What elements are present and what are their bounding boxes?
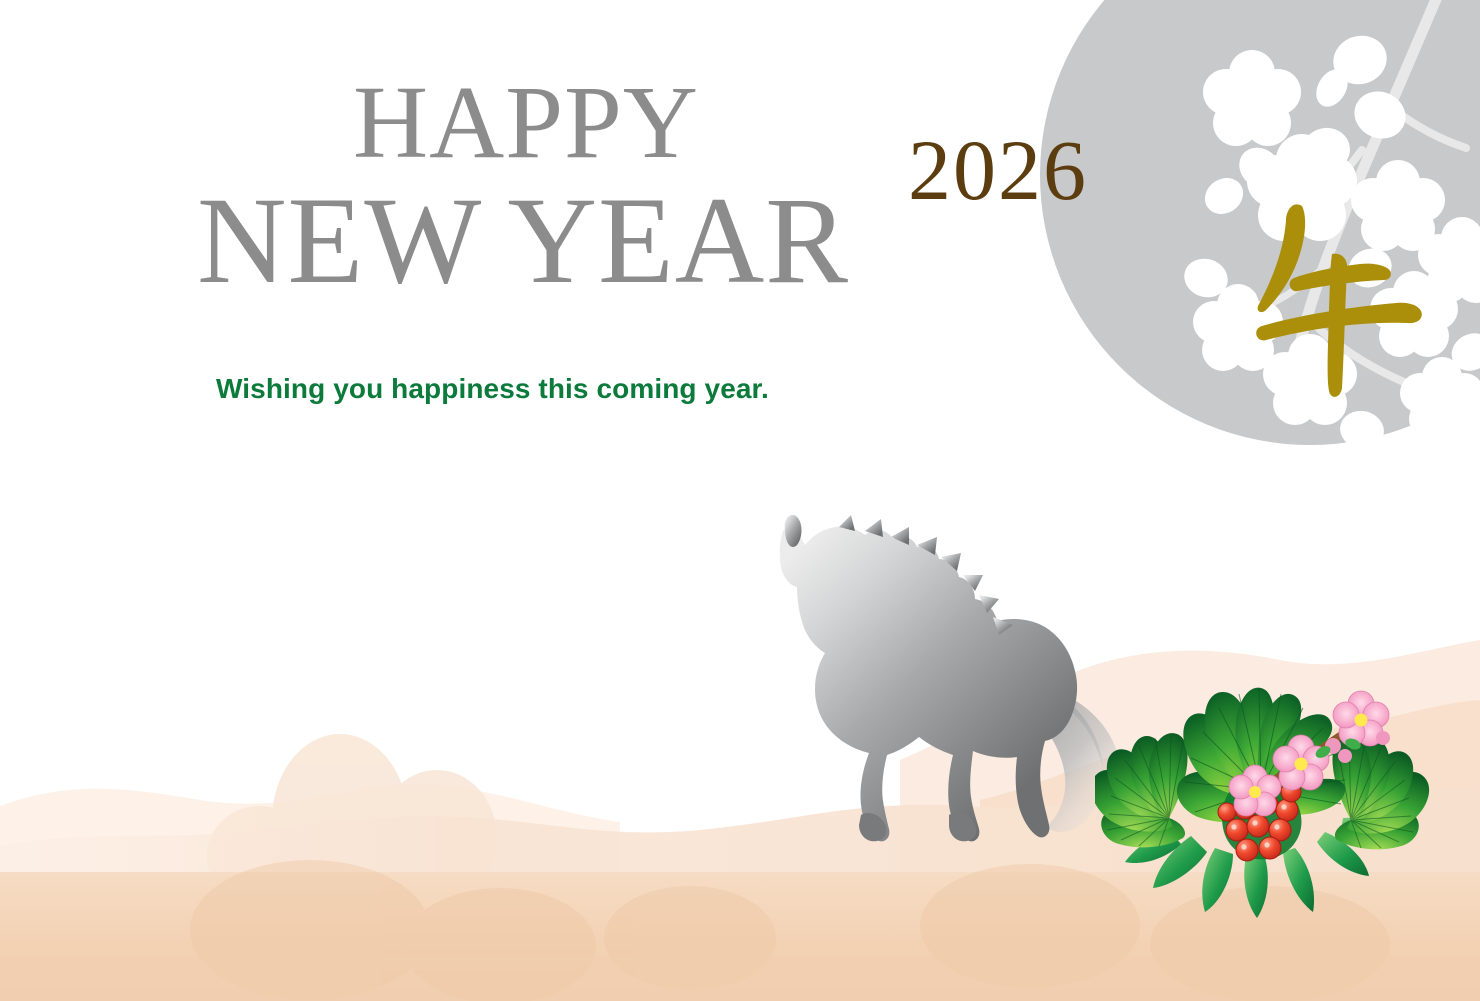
shochikubai-arrangement bbox=[1095, 660, 1440, 925]
galloping-horse-silhouette bbox=[735, 515, 1155, 875]
year-label: 2026 bbox=[908, 127, 1088, 213]
headline-line-1: HAPPY bbox=[128, 72, 918, 174]
ground-tone-band bbox=[0, 955, 1480, 1001]
headline-line-2: NEW YEAR bbox=[128, 180, 918, 302]
page-title: HAPPY NEW YEAR bbox=[128, 72, 918, 301]
horse-body bbox=[780, 526, 1077, 841]
horse-zodiac-kanji bbox=[1248, 198, 1428, 403]
greeting-tagline: Wishing you happiness this coming year. bbox=[216, 373, 769, 405]
new-year-greeting-card: HAPPY NEW YEAR Wishing you happiness thi… bbox=[0, 0, 1480, 1001]
